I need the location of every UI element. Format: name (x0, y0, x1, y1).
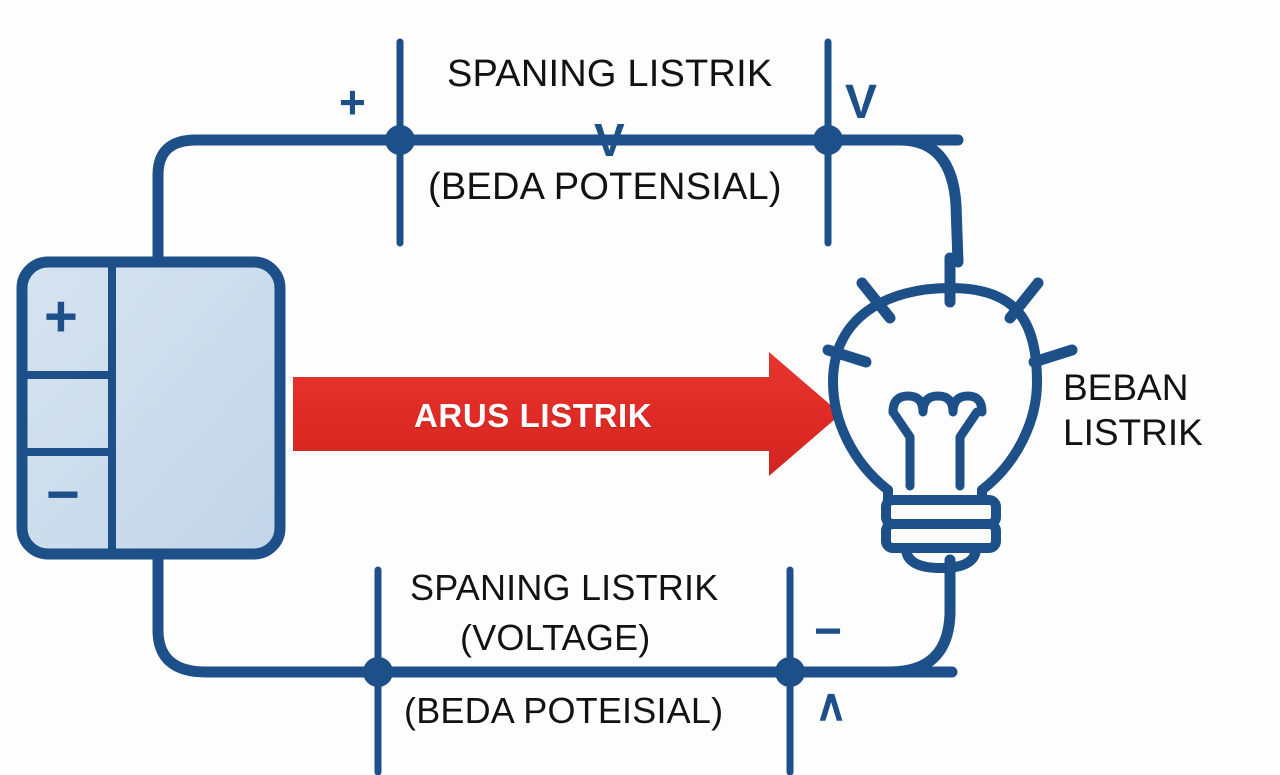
bottom-voltage-label-line2: (VOLTAGE) (460, 620, 650, 657)
node-bottom-right (775, 657, 805, 687)
node-top-right (813, 125, 843, 155)
bottom-voltage-label-line1: SPANING LISTRIK (410, 570, 718, 607)
bottom-voltage-label-line3: (BEDA POTEISIAL) (404, 693, 723, 730)
wire-top-to-bulb (828, 140, 958, 262)
diagram-canvas: SPANING LISTRIK (BEDA POTENSIAL) V + V S… (0, 0, 1280, 775)
terminal-v-symbol-top-right: V (845, 79, 877, 127)
top-measure-symbol-v: V (594, 117, 625, 163)
terminal-plus-symbol-top: + (339, 79, 366, 125)
bulb-filament-left (893, 412, 910, 486)
bulb-base-tip (906, 548, 976, 568)
top-voltage-label-line2: (BEDA POTENSIAL) (428, 168, 782, 207)
bulb-filament-right (960, 412, 977, 486)
light-bulb-icon (833, 288, 1037, 568)
node-top-left (385, 125, 415, 155)
battery-plus-symbol: + (44, 288, 78, 346)
load-label-line1: BEBAN (1063, 366, 1188, 410)
battery-minus-symbol: − (46, 466, 80, 524)
terminal-caret-symbol-bottom: ∧ (815, 684, 847, 728)
bulb-filament-coil (893, 396, 982, 412)
top-voltage-label-line1: SPANING LISTRIK (447, 55, 772, 94)
terminal-minus-symbol-bottom: − (814, 608, 842, 656)
node-bottom-left (363, 657, 393, 687)
current-arrow-label: ARUS LISTRIK (414, 397, 652, 435)
load-label-line2: LISTRIK (1063, 411, 1203, 455)
